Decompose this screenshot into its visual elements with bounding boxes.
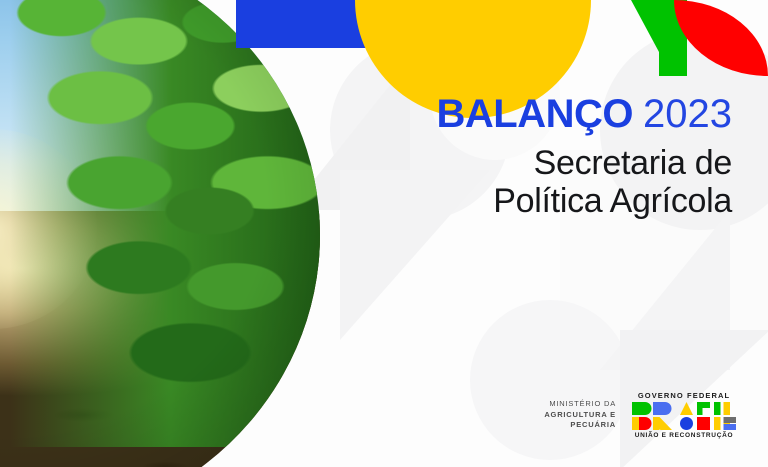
governo-federal-label: GOVERNO FEDERAL bbox=[638, 391, 730, 400]
title-year: 2023 bbox=[643, 92, 732, 136]
brasil-wordmark-icon bbox=[632, 402, 736, 430]
government-logo: GOVERNO FEDERAL bbox=[632, 391, 736, 439]
headline-block: BALANÇO2023 Secretaria de Política Agríc… bbox=[437, 94, 732, 220]
ministry-logo: MINISTÉRIO DA AGRICULTURA E PECUÁRIA bbox=[544, 399, 616, 432]
ministry-line-3: PECUÁRIA bbox=[544, 420, 616, 431]
ministry-line-1: MINISTÉRIO DA bbox=[544, 399, 616, 410]
page-title: BALANÇO bbox=[437, 92, 633, 136]
soybean-field-photo bbox=[0, 0, 320, 467]
ministry-line-2: AGRICULTURA E bbox=[544, 410, 616, 421]
photo-content bbox=[0, 0, 320, 467]
green-wedge-shape bbox=[631, 0, 659, 52]
footer-logo-group: MINISTÉRIO DA AGRICULTURA E PECUÁRIA GOV… bbox=[544, 391, 736, 439]
photo-vignette bbox=[0, 0, 320, 467]
subtitle-line-2: Política Agrícola bbox=[437, 182, 732, 220]
balanco-2023-banner: BALANÇO2023 Secretaria de Política Agríc… bbox=[0, 0, 768, 467]
subtitle-line-1: Secretaria de bbox=[437, 144, 732, 182]
title-line: BALANÇO2023 bbox=[437, 94, 732, 134]
uniao-reconstrucao-label: UNIÃO E RECONSTRUÇÃO bbox=[635, 432, 734, 439]
